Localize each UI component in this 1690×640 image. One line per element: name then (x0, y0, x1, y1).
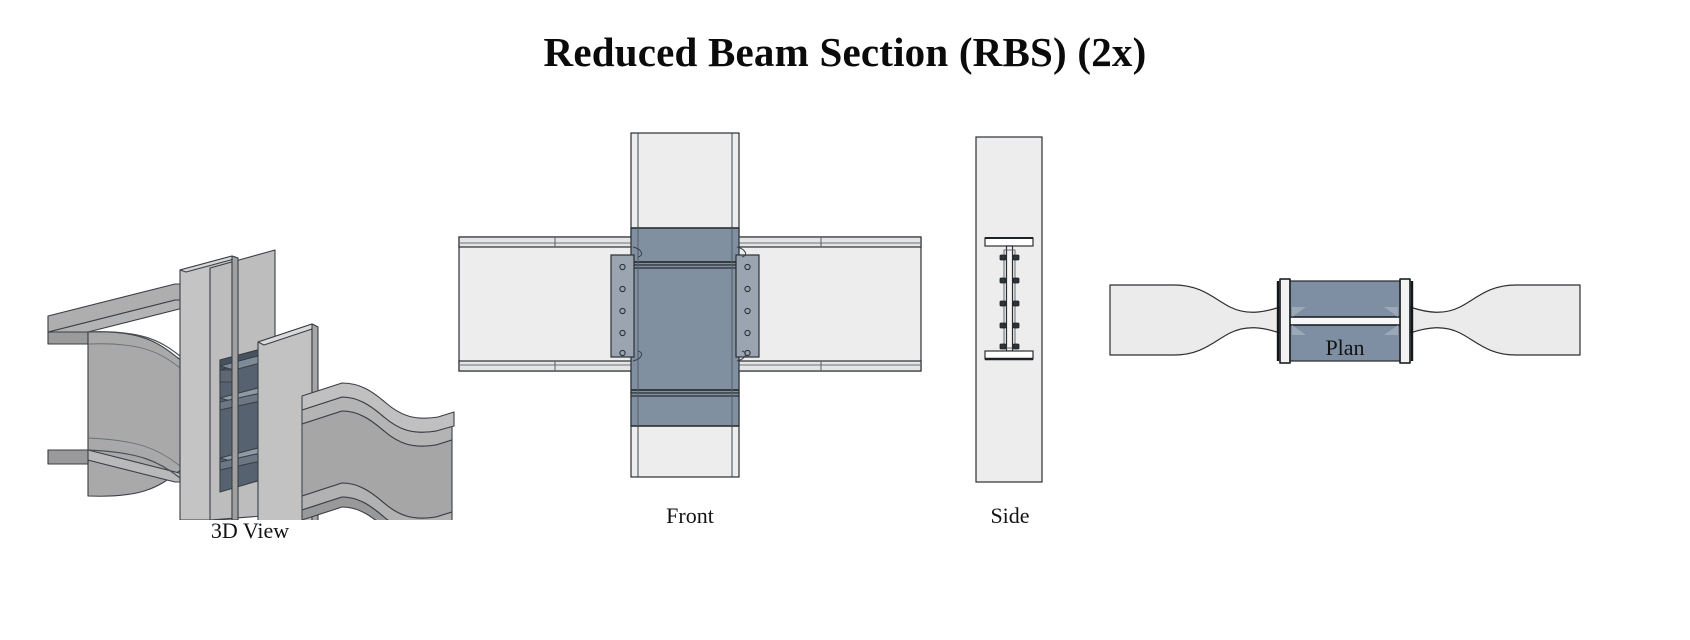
view-front-caption: Front (455, 503, 925, 529)
view-side-graphic (940, 125, 1080, 525)
view-side-caption: Side (940, 503, 1080, 529)
view-plan-graphic (1110, 255, 1580, 385)
view-plan[interactable]: Plan (1110, 255, 1580, 385)
view-plan-caption: Plan (1110, 335, 1580, 361)
view-front[interactable]: Front (455, 125, 925, 525)
view-3d-caption: 3D View (40, 518, 460, 544)
view-side[interactable]: Side (940, 125, 1080, 525)
view-3d[interactable]: 3D View (40, 120, 460, 520)
view-3d-graphic (40, 120, 460, 520)
drawing-sheet: Reduced Beam Section (RBS) (2x) (0, 0, 1690, 640)
page-title: Reduced Beam Section (RBS) (2x) (0, 28, 1690, 76)
view-front-graphic (455, 125, 925, 525)
